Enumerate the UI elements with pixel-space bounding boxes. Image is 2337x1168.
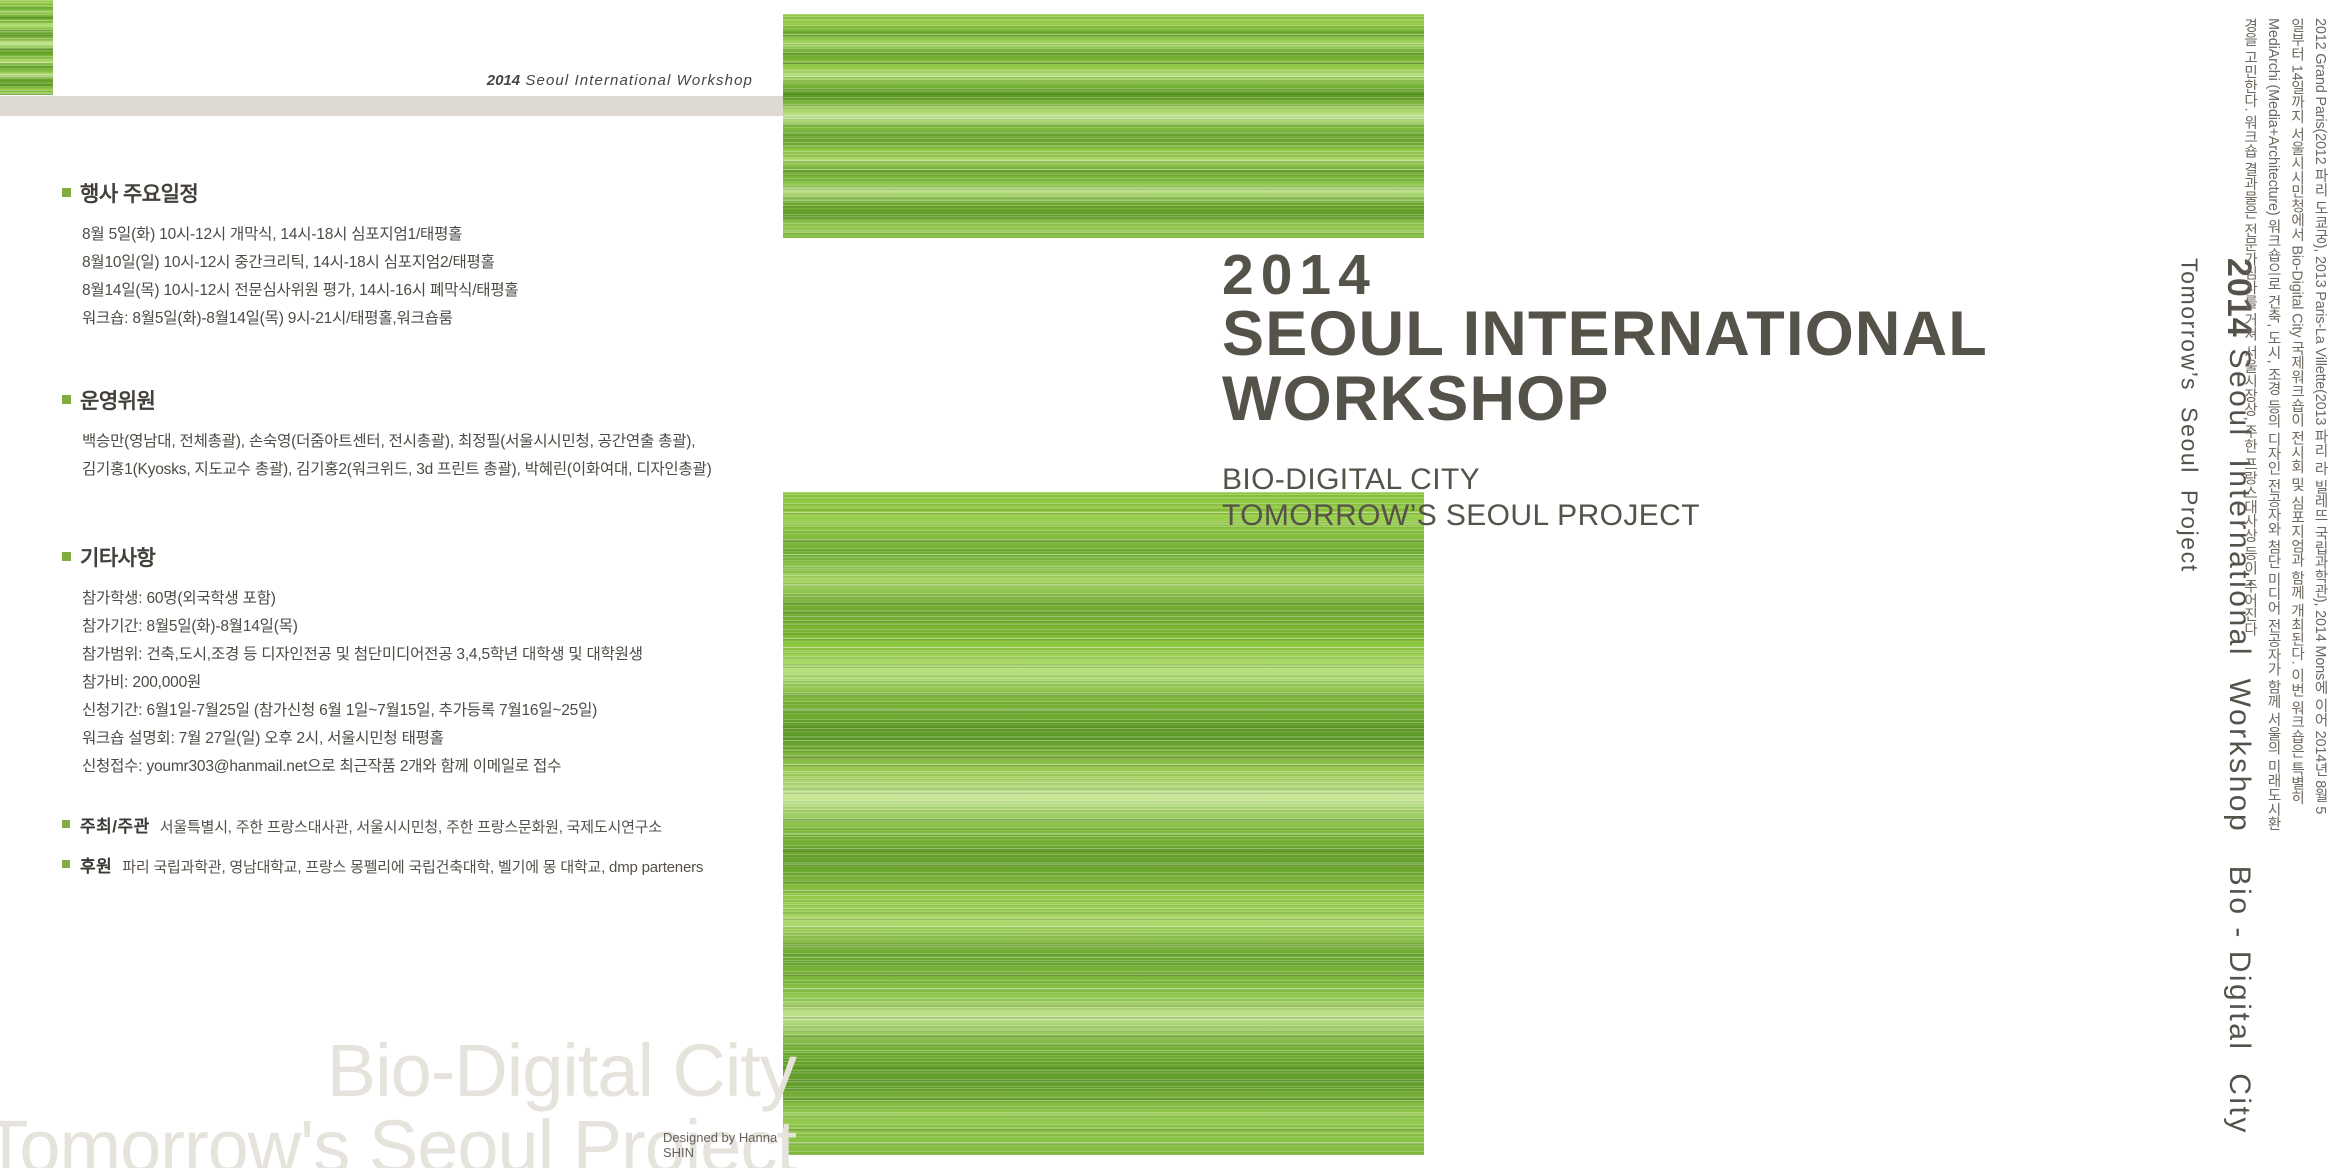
etc-line: 참가기간: 8월5일(화)-8월14일(목) <box>62 613 643 641</box>
etc-line: 참가비: 200,000원 <box>62 669 643 697</box>
etc-line: 참가범위: 건축,도시,조경 등 디자인전공 및 첨단미디어전공 3,4,5학년… <box>62 641 643 669</box>
watermark-line-1: Bio-Digital City <box>327 1029 796 1112</box>
section-schedule: 행사 주요일정 8월 5일(화) 10시-12시 개막식, 14시-18시 심포… <box>62 178 518 333</box>
section-etc-heading: 기타사항 <box>62 542 643 572</box>
vertical-description: 2012 Grand Paris(2012 파리 도쿄궁), 2013 Pari… <box>2237 18 2331 1148</box>
designer-credit: Designed by Hanna SHIN <box>663 1130 783 1160</box>
center-year: 2014 <box>1222 246 2122 306</box>
section-schedule-heading-label: 행사 주요일정 <box>80 178 198 208</box>
section-host: 주최/주관 서울특별시, 주한 프랑스대사관, 서울시시민청, 주한 프랑스문화… <box>62 812 662 837</box>
grass-texture-bottom <box>783 492 1424 1155</box>
square-bullet-icon <box>62 820 70 828</box>
section-host-text: 서울특별시, 주한 프랑스대사관, 서울시시민청, 주한 프랑스문화원, 국제도… <box>160 816 662 837</box>
section-committee-heading: 운영위원 <box>62 385 712 415</box>
section-sponsor: 후원 파리 국립과학관, 영남대학교, 프랑스 몽펠리에 국립건축대학, 벨기에… <box>62 852 703 877</box>
image-credit: image of Artist Gina KIM <box>1505 1110 1650 1125</box>
center-title-block: 2014 SEOUL INTERNATIONAL WORKSHOP BIO-DI… <box>1222 246 2122 535</box>
grass-texture-top <box>783 14 1424 238</box>
etc-line: 워크숍 설명회: 7월 27일(일) 오후 2시, 서울시민청 태평홀 <box>62 725 643 753</box>
schedule-line: 8월14일(목) 10시-12시 전문심사위원 평가, 14시-16시 폐막식/… <box>62 277 518 305</box>
schedule-line: 워크숍: 8월5일(화)-8월14일(목) 9시-21시/태평홀,워크숍룸 <box>62 305 518 333</box>
header-divider-rule <box>0 96 783 116</box>
section-sponsor-text: 파리 국립과학관, 영남대학교, 프랑스 몽펠리에 국립건축대학, 벨기에 몽 … <box>122 856 703 877</box>
section-committee: 운영위원 백승만(영남대, 전체총괄), 손숙영(더줌아트센터, 전시총괄), … <box>62 385 712 484</box>
etc-line: 참가학생: 60명(외국학생 포함) <box>62 585 643 613</box>
schedule-line: 8월10일(일) 10시-12시 중간크리틱, 14시-18시 심포지엄2/태평… <box>62 249 518 277</box>
section-schedule-heading: 행사 주요일정 <box>62 178 518 208</box>
header-title: 2014 Seoul International Workshop <box>487 72 753 89</box>
center-subtitle: BIO-DIGITAL CITY TOMORROW’S SEOUL PROJEC… <box>1222 462 2122 535</box>
center-main-title-line1: SEOUL INTERNATIONAL <box>1222 302 2122 367</box>
left-info-panel: 2014 Seoul International Workshop 행사 주요일… <box>0 0 783 1168</box>
section-etc-heading-label: 기타사항 <box>80 542 155 572</box>
committee-line: 김기홍1(Kyosks, 지도교수 총괄), 김기홍2(워크위드, 3d 프린트… <box>62 456 712 484</box>
schedule-line: 8월 5일(화) 10시-12시 개막식, 14시-18시 심포지엄1/태평홀 <box>62 221 518 249</box>
etc-line-email: 신청접수: youmr303@hanmail.net으로 최근작품 2개와 함께… <box>62 753 643 781</box>
vertical-title-line2: Tomorrow’s Seoul Project <box>2176 258 2202 573</box>
center-subtitle-line1: BIO-DIGITAL CITY <box>1222 462 2122 499</box>
poster-root: image of Artist Gina KIM 2014 Seoul Inte… <box>0 0 2337 1168</box>
header-title-rest: Seoul International Workshop <box>525 72 753 89</box>
square-bullet-icon <box>62 860 70 868</box>
square-bullet-icon <box>62 188 71 197</box>
square-bullet-icon <box>62 552 71 561</box>
center-subtitle-line2: TOMORROW’S SEOUL PROJECT <box>1222 498 2122 535</box>
section-host-label: 주최/주관 <box>80 812 150 837</box>
section-committee-heading-label: 운영위원 <box>80 385 155 415</box>
etc-line: 신청기간: 6월1일-7월25일 (참가신청 6월 1일~7월15일, 추가등록… <box>62 697 643 725</box>
committee-line: 백승만(영남대, 전체총괄), 손숙영(더줌아트센터, 전시총괄), 최정필(서… <box>62 428 712 456</box>
section-sponsor-label: 후원 <box>80 852 112 877</box>
square-bullet-icon <box>62 395 71 404</box>
section-etc: 기타사항 참가학생: 60명(외국학생 포함) 참가기간: 8월5일(화)-8월… <box>62 542 643 781</box>
center-main-title-line2: WORKSHOP <box>1222 367 2122 432</box>
center-main-title: SEOUL INTERNATIONAL WORKSHOP <box>1222 302 2122 432</box>
header-year: 2014 <box>487 72 520 89</box>
